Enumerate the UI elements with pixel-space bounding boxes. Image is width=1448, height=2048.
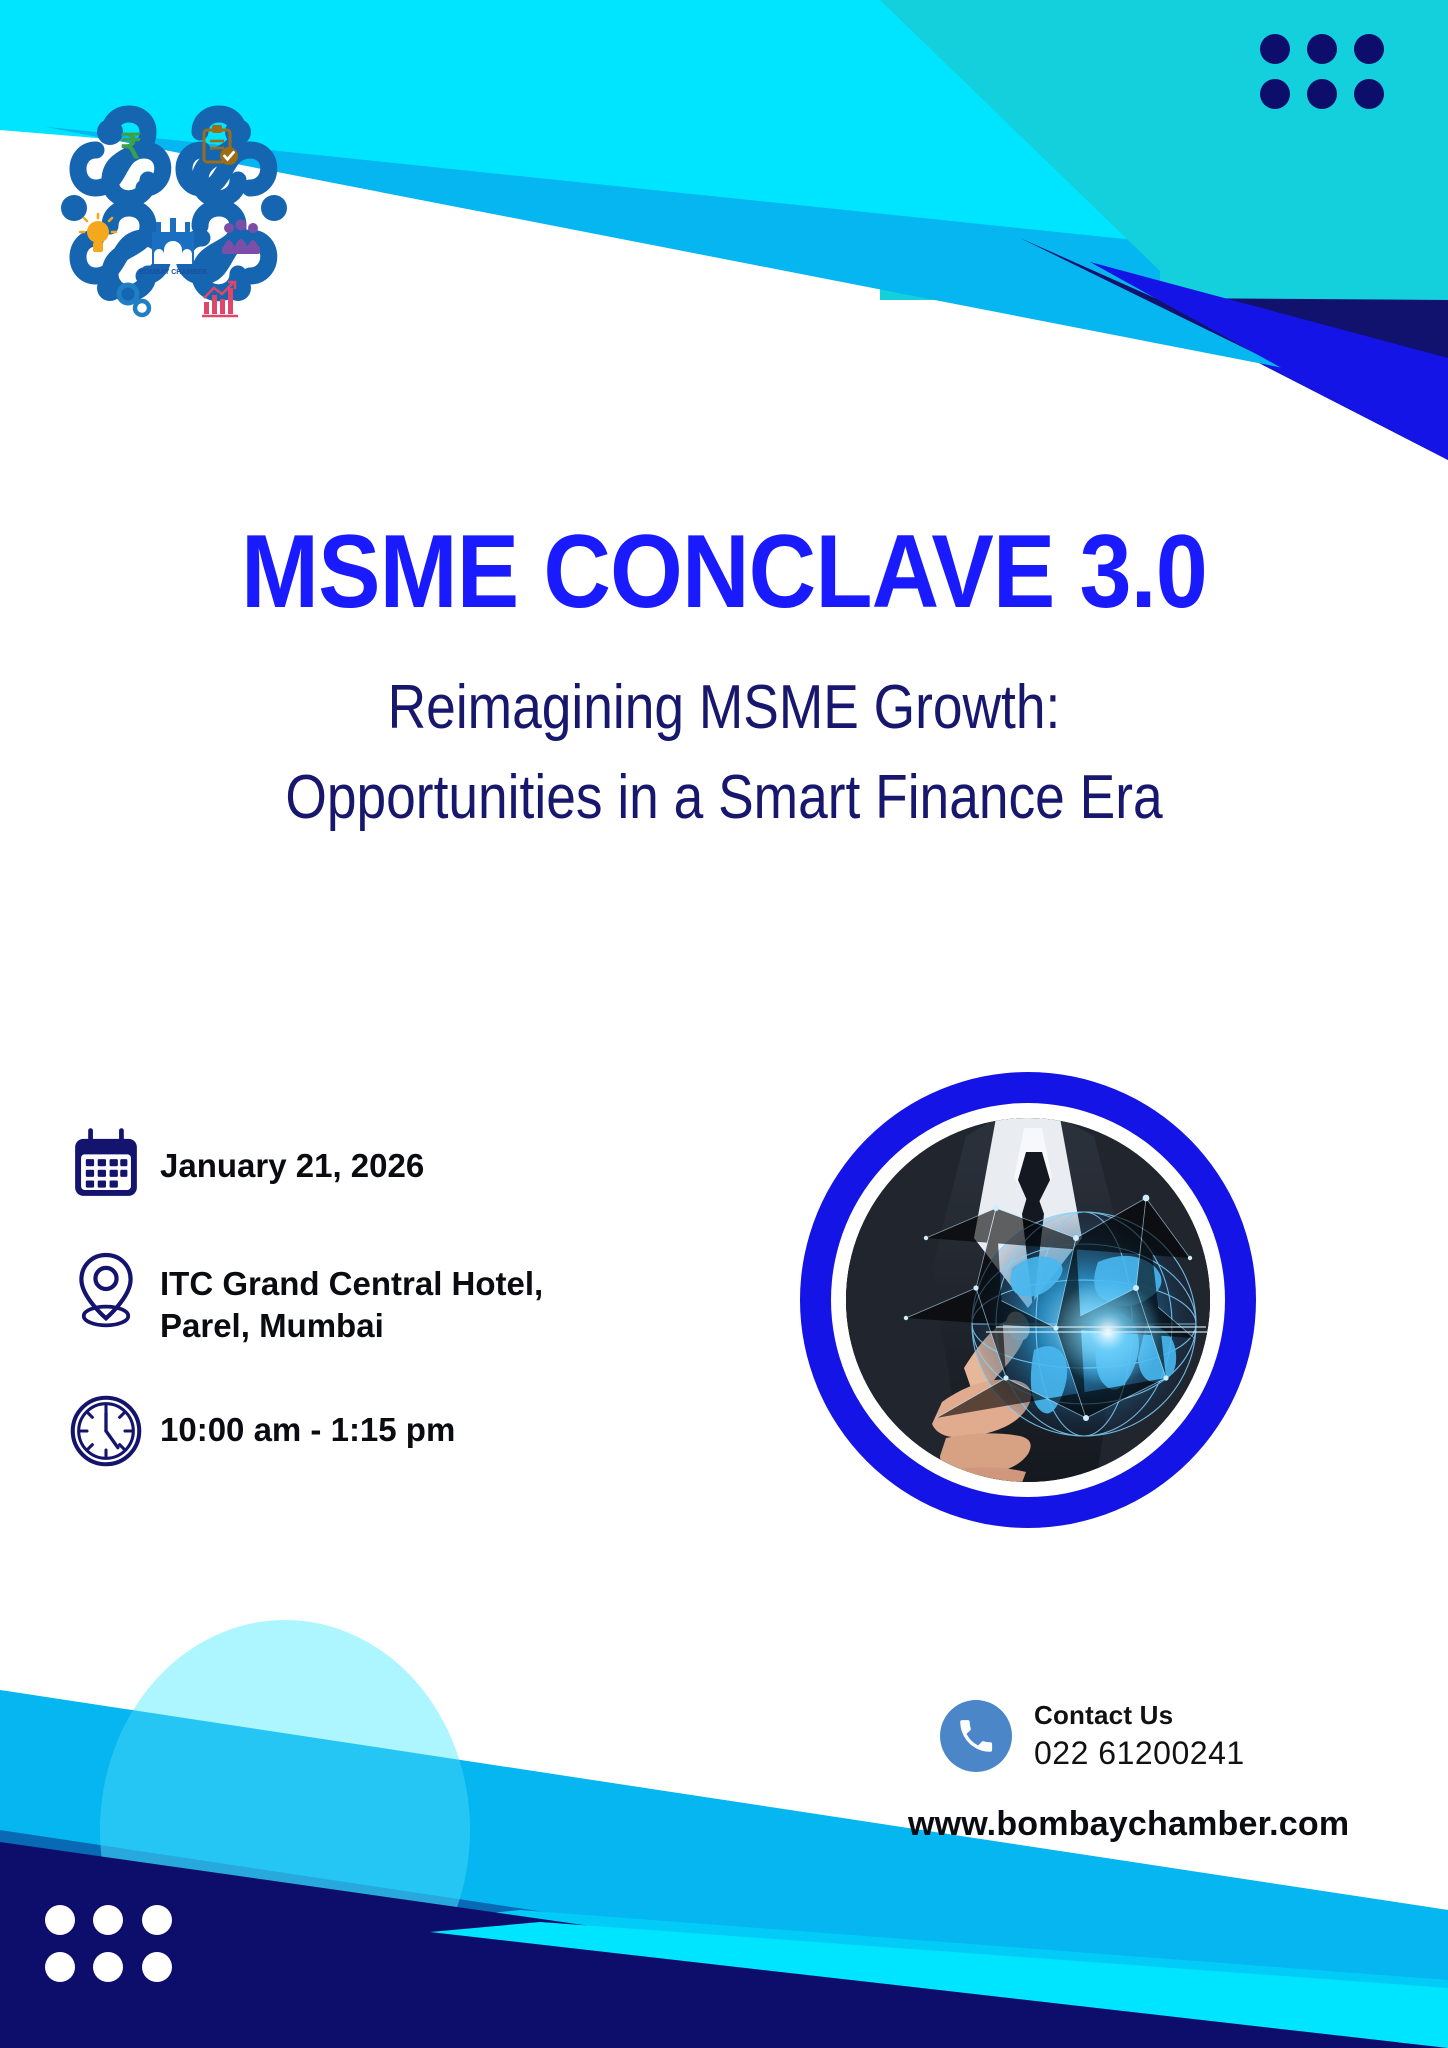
phone-icon[interactable] [940,1700,1012,1772]
title-block: MSME CONCLAVE 3.0 Reimagining MSME Growt… [0,520,1448,839]
dot [1354,34,1384,64]
detail-row-venue: ITC Grand Central Hotel, Parel, Mumbai [66,1249,686,1347]
contact-text: Contact Us 022 61200241 [1034,1700,1245,1772]
detail-row-time: 10:00 am - 1:15 pm [66,1391,686,1471]
globe-photo-white-gap [831,1103,1225,1497]
event-date: January 21, 2026 [146,1125,424,1187]
top-dot-grid [1252,26,1392,116]
event-details: January 21, 2026 ITC Grand Central Hotel… [66,1125,686,1515]
venue-line-1: ITC Grand Central Hotel, [160,1263,543,1305]
event-time: 10:00 am - 1:15 pm [146,1391,455,1451]
subtitle-line-2: Opportunities in a Smart Finance Era [101,756,1346,840]
dot [1260,34,1290,64]
location-pin-icon [66,1249,146,1329]
page-title: MSME CONCLAVE 3.0 [72,520,1375,624]
contact-row: Contact Us 022 61200241 [940,1700,1380,1772]
dot [1260,79,1290,109]
calendar-icon [66,1125,146,1205]
bombay-chamber-logo: ₹ [52,88,292,318]
bottom-dot-grid [36,1896,181,1991]
dot [1307,34,1337,64]
dot [1307,79,1337,109]
dot [93,1905,123,1935]
clock-icon [66,1391,146,1471]
businessman-digital-globe-photo [846,1118,1210,1482]
event-poster: ₹ [0,0,1448,2048]
svg-text:₹: ₹ [120,128,142,166]
dot [1354,79,1384,109]
globe-photo-ring [800,1072,1256,1528]
dot [93,1952,123,1982]
rupee-icon: ₹ [120,128,142,166]
website-url[interactable]: www.bombaychamber.com [908,1805,1349,1844]
contact-label: Contact Us [1034,1700,1245,1731]
dot [45,1952,75,1982]
detail-row-date: January 21, 2026 [66,1125,686,1205]
contact-block: Contact Us 022 61200241 [940,1700,1380,1772]
contact-phone-number: 022 61200241 [1034,1735,1245,1772]
dot [142,1952,172,1982]
event-venue: ITC Grand Central Hotel, Parel, Mumbai [146,1249,543,1347]
subtitle-line-1: Reimagining MSME Growth: [101,666,1346,750]
logo-caption: BOMBAY CHAMBER [139,269,207,276]
dot [142,1905,172,1935]
venue-line-2: Parel, Mumbai [160,1305,543,1347]
dot [45,1905,75,1935]
